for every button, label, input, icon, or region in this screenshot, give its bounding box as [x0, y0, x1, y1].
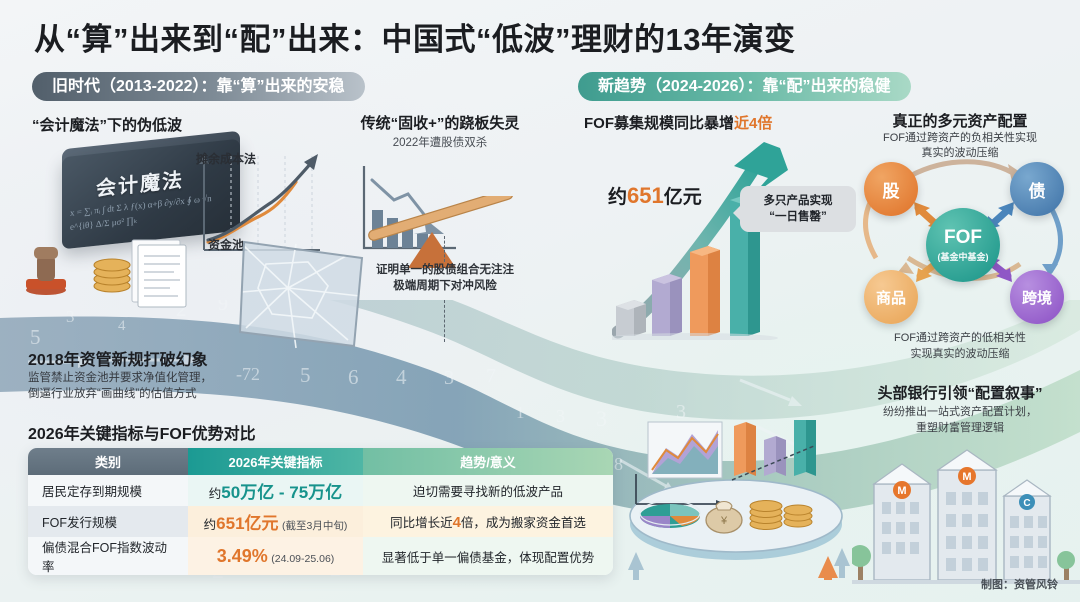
broken-glass-illustration — [236, 236, 366, 356]
metric-value: 3.49% — [217, 546, 268, 566]
svg-text:3: 3 — [444, 367, 454, 389]
amortized-cost-label: 摊余成本法 — [196, 150, 256, 167]
table-header-metric: 2026年关键指标 — [188, 448, 363, 475]
table-cell-trend: 同比增长近4倍，成为搬家资金首选 — [363, 506, 613, 537]
bubble-line1: 多只产品实现 — [748, 193, 848, 209]
table-cell-category: FOF发行规模 — [28, 506, 188, 537]
trend-prefix: 同比增长近 — [390, 516, 453, 530]
table-row: FOF发行规模 约651亿元 (截至3月中旬) 同比增长近4倍，成为搬家资金首选 — [28, 506, 613, 537]
asset-platform-illustration: ¥ — [618, 420, 858, 580]
connector-dashed-bottom — [444, 300, 445, 342]
sold-out-bubble: 多只产品实现 “一日售罄” — [740, 186, 856, 232]
old-block2-subheading: 2022年遭股债双杀 — [340, 134, 540, 150]
page-title: 从“算”出来到“配”出来：中国式“低波”理财的13年演变 — [34, 14, 795, 59]
old-block1-heading: “会计魔法”下的伪低波 — [32, 114, 182, 135]
new-block1-heading: FOF募集规模同比暴增近4倍 — [584, 112, 772, 133]
new-block3-heading: 头部银行引领“配置叙事” — [840, 382, 1080, 403]
metric-prefix: 约 — [204, 518, 217, 532]
metric-value: 50万亿 - 75万亿 — [221, 483, 342, 502]
table-header-trend: 趋势/意义 — [363, 448, 613, 475]
comparison-table: 类别 2026年关键指标 趋势/意义 居民定存到期规模 约50万亿 - 75万亿… — [28, 448, 613, 575]
svg-text:C: C — [1023, 498, 1030, 509]
old-block2-heading: 传统“固收+”的跷板失灵 — [340, 112, 540, 133]
table-cell-metric: 3.49% (24.09-25.06) — [188, 537, 363, 575]
table-cell-category: 居民定存到期规模 — [28, 475, 188, 506]
svg-text:4: 4 — [396, 365, 407, 389]
new-block2-heading: 真正的多元资产配置 — [840, 110, 1080, 131]
fof-growth-bar-chart — [612, 140, 852, 340]
infographic-canvas: 5 3 4 2 9 7 -72 5 6 4 3 7 1 3 3 8 8 3 9 … — [0, 0, 1080, 602]
table-row: 居民定存到期规模 约50万亿 - 75万亿 迫切需要寻找新的低波产品 — [28, 475, 613, 506]
svg-text:-72: -72 — [236, 364, 260, 384]
node-fof-label: FOF — [944, 227, 982, 249]
trend-number: 4 — [453, 514, 461, 531]
new-block2-sub-line1: FOF通过跨资产的负相关性实现 — [840, 131, 1080, 146]
bank-buildings-illustration: MM C — [852, 440, 1080, 590]
new-block2-footnote: FOF通过跨资产的低相关性 实现真实的波动压缩 — [840, 330, 1080, 362]
metric-value: 651亿元 — [216, 514, 278, 533]
old-block3-note: 监管禁止资金池并要求净值化管理， 倒逼行业放弃“画曲线”的估值方式 — [28, 370, 212, 402]
svg-text:3: 3 — [556, 406, 565, 426]
table-cell-metric: 约651亿元 (截至3月中旬) — [188, 506, 363, 537]
bubble-line2: “一日售罄” — [748, 209, 848, 225]
connector-dashed-top — [444, 236, 445, 262]
table-heading: 2026年关键指标与FOF优势对比 — [28, 420, 256, 444]
old-block2-note: 证明单一的股债组合无注注 极端周期下对冲风险 — [340, 262, 550, 294]
table-cell-trend: 显著低于单一偏债基金，体现配置优势 — [363, 537, 613, 575]
svg-text:¥: ¥ — [720, 515, 728, 527]
table-cell-metric: 约50万亿 - 75万亿 — [188, 475, 363, 506]
node-bond: 债 — [1010, 162, 1064, 216]
metric-prefix: 约 — [209, 487, 222, 501]
table-header-category: 类别 — [28, 448, 188, 475]
new-block2-subtext: FOF通过跨资产的负相关性实现 真实的波动压缩 — [840, 131, 1080, 161]
node-cross-border: 跨境 — [1010, 270, 1064, 324]
node-commodity: 商品 — [864, 270, 918, 324]
svg-text:M: M — [962, 471, 971, 483]
old-block3-heading: 2018年资管新规打破幻象 — [28, 346, 208, 370]
trend-suffix: 倍，成为搬家资金首选 — [461, 516, 586, 530]
comparison-table-wrapper: 类别 2026年关键指标 趋势/意义 居民定存到期规模 约50万亿 - 75万亿… — [28, 448, 613, 575]
new-block2-foot-line1: FOF通过跨资产的低相关性 — [840, 330, 1080, 346]
table-row: 偏债混合FOF指数波动率 3.49% (24.09-25.06) 显著低于单一偏… — [28, 537, 613, 575]
svg-text:5: 5 — [300, 363, 311, 387]
old-block3-line2: 倒逼行业放弃“画曲线”的估值方式 — [28, 386, 212, 402]
node-fof-center: FOF (基金中基金) — [926, 208, 1000, 282]
svg-text:M: M — [897, 485, 906, 497]
old-block2-note-line2: 极端周期下对冲风险 — [340, 278, 550, 294]
new-block3-line2: 重塑财富管理逻辑 — [840, 420, 1080, 436]
new-block2-foot-line2: 实现真实的波动压缩 — [840, 346, 1080, 362]
node-fof-sublabel: (基金中基金) — [938, 250, 989, 263]
svg-text:4: 4 — [118, 318, 126, 334]
metric-note: (24.09-25.06) — [271, 553, 334, 565]
svg-text:9: 9 — [218, 300, 228, 315]
section-pill-old-era: 旧时代（2013-2022）：靠“算”出来的安稳 — [32, 72, 365, 101]
fof-asset-diagram: 股 债 商品 跨境 FOF (基金中基金) — [852, 158, 1076, 326]
svg-text:3: 3 — [66, 307, 75, 326]
svg-text:1: 1 — [516, 403, 525, 422]
new-block3-line1: 纷纷推出一站式资产配置计划， — [840, 404, 1080, 420]
new-block3-note: 纷纷推出一站式资产配置计划， 重塑财富管理逻辑 — [840, 404, 1080, 436]
metric-note: (截至3月中旬) — [282, 520, 347, 532]
svg-text:7: 7 — [486, 365, 496, 387]
section-pill-new-trend: 新趋势（2024-2026）：靠“配”出来的稳健 — [578, 72, 911, 101]
new-block1-heading-text: FOF募集规模同比暴增 — [584, 115, 734, 132]
new-block1-heading-accent: 近4倍 — [734, 115, 772, 132]
credit-label: 制图：资管风铃 — [981, 576, 1058, 592]
old-block3-line1: 监管禁止资金池并要求净值化管理， — [28, 370, 212, 386]
table-cell-trend: 迫切需要寻找新的低波产品 — [363, 475, 613, 506]
table-header-row: 类别 2026年关键指标 趋势/意义 — [28, 448, 613, 475]
svg-text:6: 6 — [348, 365, 359, 389]
stamp-icon — [24, 243, 68, 295]
table-cell-category: 偏债混合FOF指数波动率 — [28, 537, 188, 575]
svg-text:3: 3 — [596, 406, 607, 431]
old-block2-note-line1: 证明单一的股债组合无注注 — [340, 262, 550, 278]
node-stock: 股 — [864, 162, 918, 216]
